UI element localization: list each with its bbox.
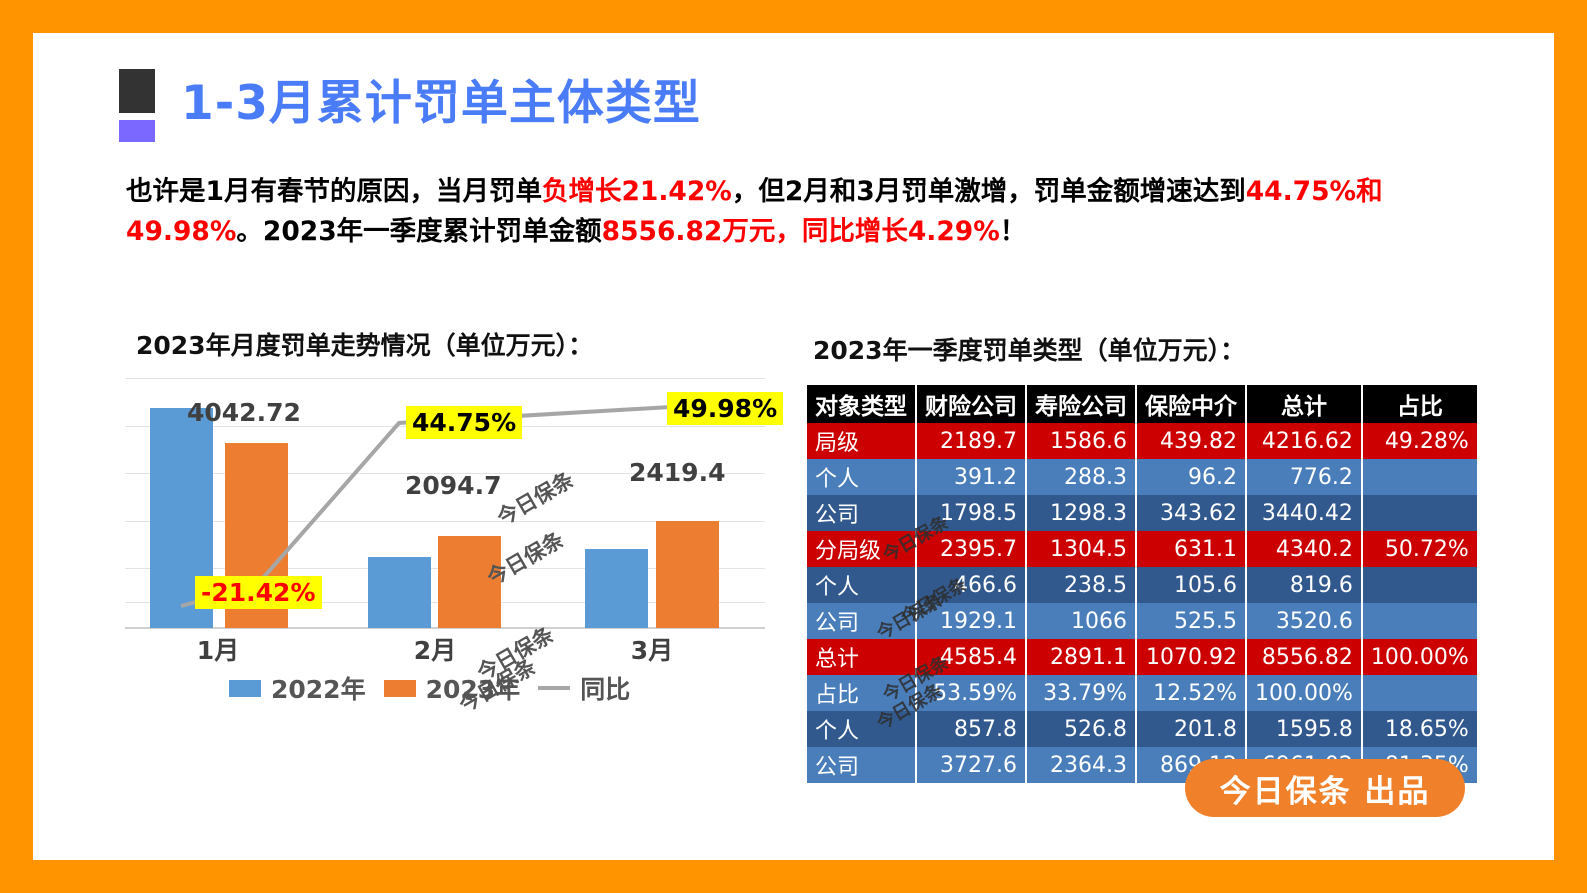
table-cell-value: 100.00%: [1246, 675, 1362, 711]
table-header-row: 对象类型 财险公司 寿险公司 保险中介 总计 占比: [806, 385, 1478, 423]
page-title: 1-3月累计罚单主体类型: [181, 64, 701, 133]
table-cell-value: [1362, 567, 1478, 603]
table-cell-value: 238.5: [1026, 567, 1136, 603]
table-cell-value: 1066: [1026, 603, 1136, 639]
pct-label-mar: 49.98%: [667, 392, 783, 425]
monthly-trend-chart: 4042.72 2094.7 2419.4 -21.42% 44.75% 49.…: [125, 378, 765, 628]
legend-label-yoy: 同比: [580, 670, 630, 706]
table-cell-label: 局级: [806, 423, 916, 459]
col-header-life-insurance: 寿险公司: [1026, 385, 1136, 423]
table-cell-label: 占比: [806, 675, 916, 711]
table-cell-value: 49.28%: [1362, 423, 1478, 459]
table-cell-value: 100.00%: [1362, 639, 1478, 675]
legend-swatch-2023-icon: [384, 680, 416, 697]
table-cell-value: 33.79%: [1026, 675, 1136, 711]
table-cell-value: [1362, 459, 1478, 495]
slide-canvas: 1-3月累计罚单主体类型 也许是1月有春节的原因，当月罚单负增长21.42%，但…: [33, 33, 1554, 860]
table-cell-value: 18.65%: [1362, 711, 1478, 747]
legend-label-2022: 2022年: [271, 670, 366, 706]
legend-swatch-2022-icon: [229, 680, 261, 697]
table-cell-label: 公司: [806, 603, 916, 639]
table-cell-value: 1586.6: [1026, 423, 1136, 459]
table-cell-value: 4216.62: [1246, 423, 1362, 459]
table-cell-value: 776.2: [1246, 459, 1362, 495]
table-cell-value: 2364.3: [1026, 747, 1136, 783]
table-row: 公司1798.51298.3343.623440.42: [806, 495, 1478, 531]
table-cell-value: 8556.82: [1246, 639, 1362, 675]
table-cell-value: 4585.4: [916, 639, 1026, 675]
x-tick-mar: 3月: [607, 631, 697, 667]
x-tick-feb: 2月: [390, 631, 480, 667]
lead-line1-highlight: 负增长21.42%: [542, 176, 732, 207]
bar-label-jan: 4042.72: [187, 398, 301, 427]
lead-paragraph: 也许是1月有春节的原因，当月罚单负增长21.42%，但2月和3月罚单激增，罚单金…: [126, 172, 1486, 252]
table-cell-value: 819.6: [1246, 567, 1362, 603]
table-cell-value: 4340.2: [1246, 531, 1362, 567]
table-cell-value: 1798.5: [916, 495, 1026, 531]
table-cell-value: 12.52%: [1136, 675, 1246, 711]
lead-line1-a: 也许是1月有春节的原因，当月罚单: [126, 176, 542, 207]
table-row: 占比53.59%33.79%12.52%100.00%: [806, 675, 1478, 711]
col-header-object-type: 对象类型: [806, 385, 916, 423]
table-cell-value: 53.59%: [916, 675, 1026, 711]
table-cell-value: [1362, 603, 1478, 639]
table-cell-value: 96.2: [1136, 459, 1246, 495]
table-row: 总计4585.42891.11070.928556.82100.00%: [806, 639, 1478, 675]
table-cell-value: 1298.3: [1026, 495, 1136, 531]
bar-label-mar: 2419.4: [629, 458, 725, 487]
table-cell-value: 50.72%: [1362, 531, 1478, 567]
table-cell-value: 201.8: [1136, 711, 1246, 747]
table-cell-value: 2395.7: [916, 531, 1026, 567]
table-cell-value: 2891.1: [1026, 639, 1136, 675]
brand-badge[interactable]: 今日保条 出品: [1185, 759, 1465, 817]
bar-label-feb: 2094.7: [405, 471, 501, 500]
table-row: 个人466.6238.5105.6819.6: [806, 567, 1478, 603]
table-cell-label: 分局级: [806, 531, 916, 567]
table-cell-label: 总计: [806, 639, 916, 675]
col-header-intermediary: 保险中介: [1136, 385, 1246, 423]
title-mark-dark-icon: [119, 69, 155, 113]
table-cell-value: 1929.1: [916, 603, 1026, 639]
table-row: 分局级2395.71304.5631.14340.250.72%: [806, 531, 1478, 567]
title-mark-purple-icon: [119, 120, 155, 142]
chart-legend: 2022年 2023年 同比: [229, 670, 638, 706]
lead-line2-a: 。2023年一季度累计罚单金额: [236, 216, 601, 247]
table-row: 公司1929.11066525.53520.6: [806, 603, 1478, 639]
col-header-property-insurance: 财险公司: [916, 385, 1026, 423]
table-cell-label: 个人: [806, 567, 916, 603]
table-cell-value: [1362, 675, 1478, 711]
table-cell-value: [1362, 495, 1478, 531]
lead-line2-b: ！: [1000, 216, 1027, 247]
table-cell-value: 3440.42: [1246, 495, 1362, 531]
table-cell-value: 857.8: [916, 711, 1026, 747]
pct-label-jan: -21.42%: [195, 576, 322, 609]
legend-label-2023: 2023年: [426, 670, 521, 706]
col-header-share: 占比: [1362, 385, 1478, 423]
table-cell-value: 1595.8: [1246, 711, 1362, 747]
table-cell-value: 2189.7: [916, 423, 1026, 459]
table-cell-value: 3727.6: [916, 747, 1026, 783]
table-cell-value: 1304.5: [1026, 531, 1136, 567]
table-cell-value: 466.6: [916, 567, 1026, 603]
lead-line2-highlight-2: 8556.82万元，同比增长4.29%: [602, 216, 1000, 247]
chart-caption: 2023年月度罚单走势情况（单位万元）：: [136, 326, 593, 362]
col-header-total: 总计: [1246, 385, 1362, 423]
table-cell-value: 343.62: [1136, 495, 1246, 531]
table-cell-value: 105.6: [1136, 567, 1246, 603]
table-cell-value: 391.2: [916, 459, 1026, 495]
lead-line1-b: ，但2月和3月罚单激增，罚单金额增速达到: [732, 176, 1246, 207]
legend-line-yoy-icon: [538, 686, 570, 690]
quarter-penalty-table: 对象类型 财险公司 寿险公司 保险中介 总计 占比 局级2189.71586.6…: [805, 385, 1479, 783]
pct-label-feb: 44.75%: [406, 406, 522, 439]
table-cell-label: 公司: [806, 747, 916, 783]
x-tick-jan: 1月: [173, 631, 263, 667]
table-cell-value: 3520.6: [1246, 603, 1362, 639]
table-cell-value: 439.82: [1136, 423, 1246, 459]
table-caption: 2023年一季度罚单类型（单位万元）：: [813, 331, 1245, 367]
table-cell-value: 526.8: [1026, 711, 1136, 747]
table-cell-value: 288.3: [1026, 459, 1136, 495]
table-row: 局级2189.71586.6439.824216.6249.28%: [806, 423, 1478, 459]
table-row: 个人857.8526.8201.81595.818.65%: [806, 711, 1478, 747]
table-cell-label: 个人: [806, 459, 916, 495]
table-cell-value: 631.1: [1136, 531, 1246, 567]
table-cell-value: 1070.92: [1136, 639, 1246, 675]
table-cell-value: 525.5: [1136, 603, 1246, 639]
table-cell-label: 个人: [806, 711, 916, 747]
table-row: 个人391.2288.396.2776.2: [806, 459, 1478, 495]
table-cell-label: 公司: [806, 495, 916, 531]
table-body: 局级2189.71586.6439.824216.6249.28%个人391.2…: [806, 423, 1478, 783]
